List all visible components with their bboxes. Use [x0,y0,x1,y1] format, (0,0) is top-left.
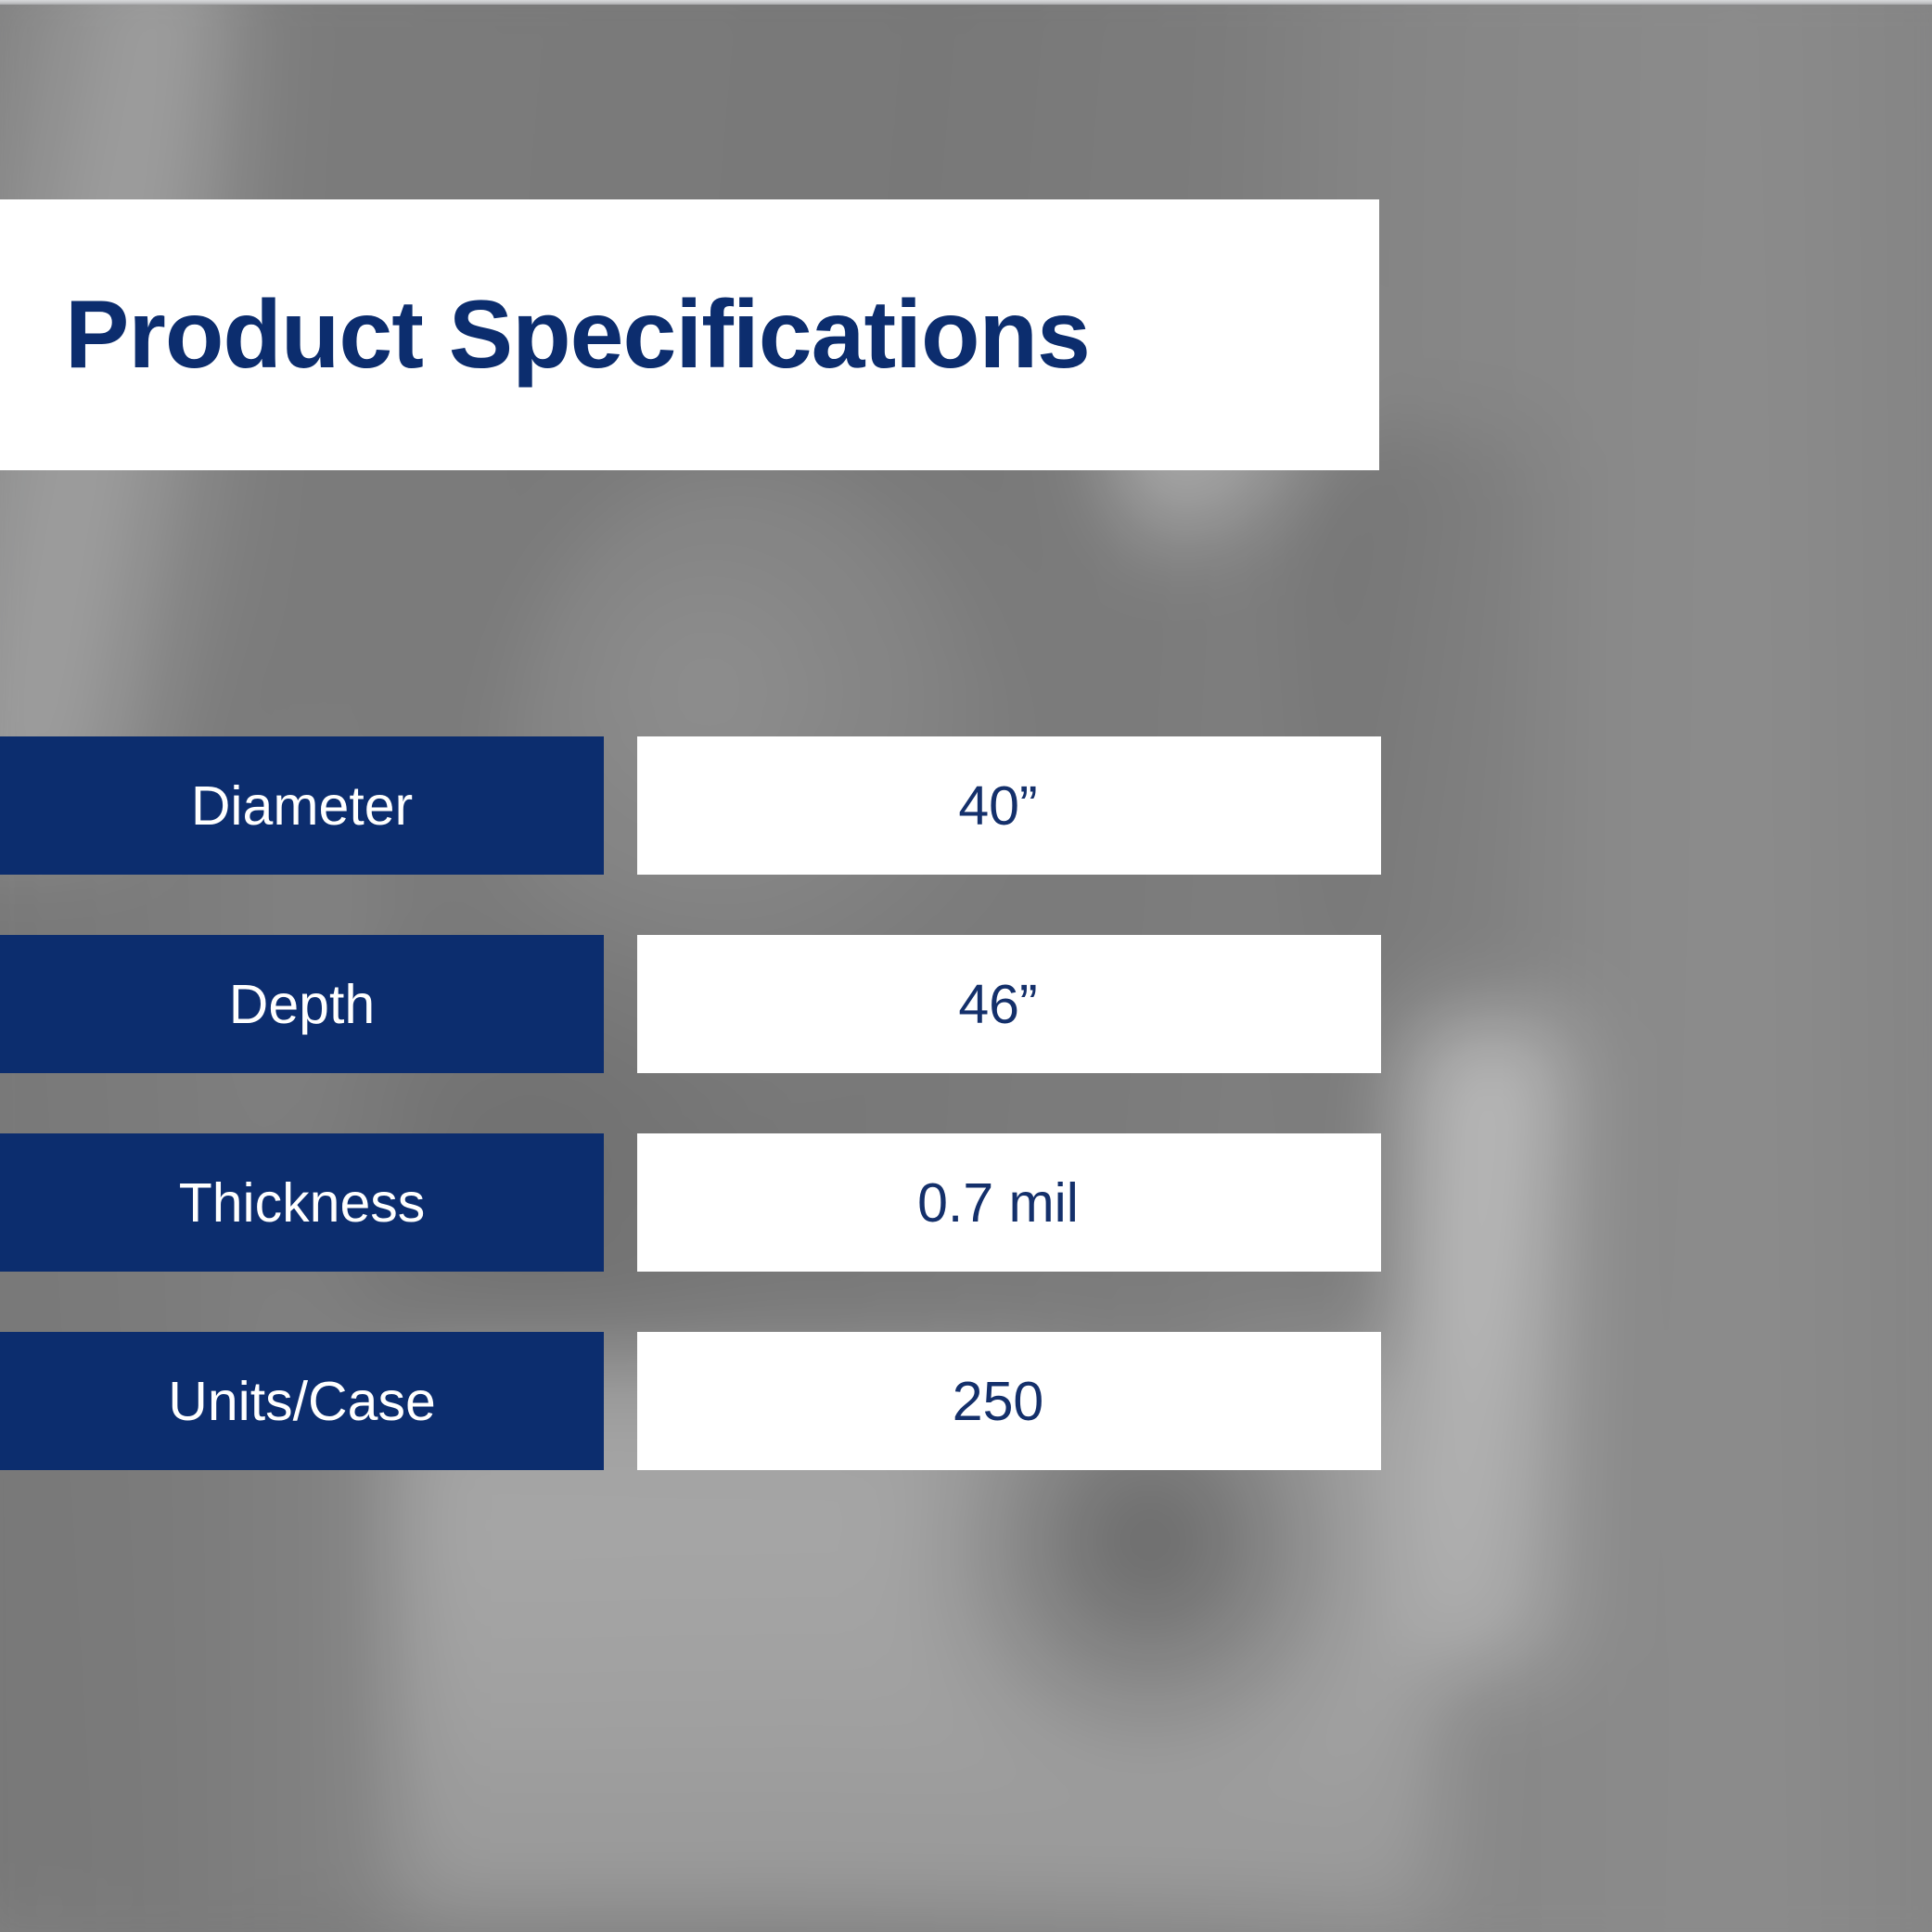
top-edge-strip [0,0,1932,5]
spec-value-thickness: 0.7 mil [637,1133,1381,1272]
spec-label-text: Depth [229,973,375,1036]
table-row: Units/Case 250 [0,1332,1381,1470]
title-banner: Product Specifications [0,199,1379,470]
spec-value-depth: 46” [637,935,1381,1073]
spec-value-diameter: 40” [637,736,1381,875]
table-row: Diameter 40” [0,736,1381,875]
spec-value-text: 40” [958,774,1037,838]
spec-label-diameter: Diameter [0,736,604,875]
spec-label-depth: Depth [0,935,604,1073]
spec-label-units-per-case: Units/Case [0,1332,604,1470]
product-spec-card: Product Specifications Diameter 40” Dept… [0,0,1932,1932]
spec-label-text: Thickness [179,1171,426,1235]
spec-value-text: 46” [958,973,1037,1036]
spec-value-text: 0.7 mil [917,1171,1079,1235]
spec-value-text: 250 [953,1370,1043,1433]
spec-label-text: Diameter [191,774,413,838]
table-row: Depth 46” [0,935,1381,1073]
spec-label-thickness: Thickness [0,1133,604,1272]
page-title: Product Specifications [0,287,1090,383]
table-row: Thickness 0.7 mil [0,1133,1381,1272]
spec-label-text: Units/Case [168,1370,436,1433]
specifications-table: Diameter 40” Depth 46” Thickness 0.7 mil [0,736,1381,1470]
spec-value-units-per-case: 250 [637,1332,1381,1470]
